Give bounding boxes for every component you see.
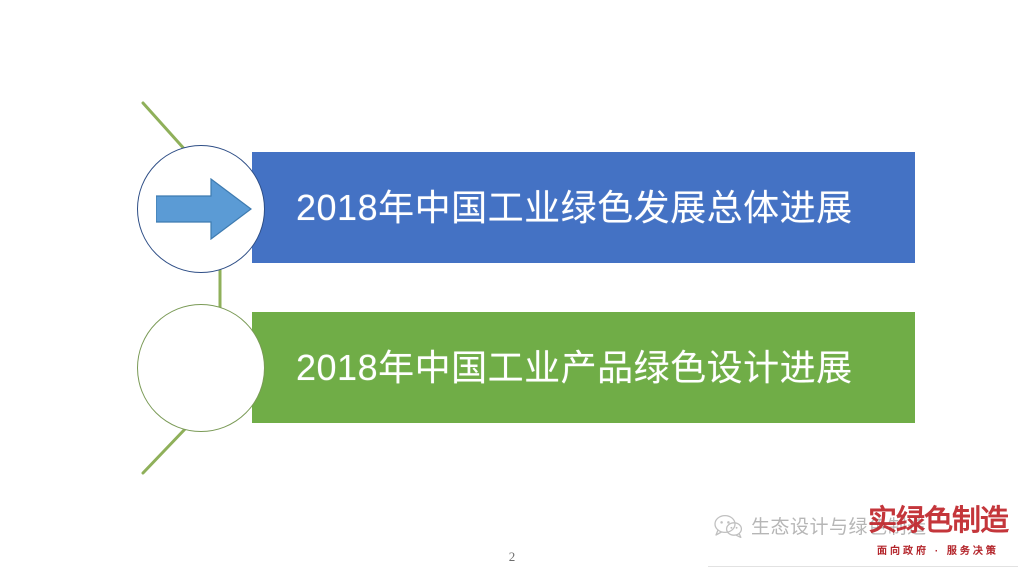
connector-line-bottom (143, 428, 186, 473)
agenda-bar-2[interactable]: 2018年中国工业产品绿色设计进展 (252, 312, 915, 423)
agenda-label-1: 2018年中国工业绿色发展总体进展 (296, 190, 853, 226)
agenda-bar-1[interactable]: 2018年中国工业绿色发展总体进展 (252, 152, 915, 263)
footer-divider (708, 566, 1018, 567)
decorative-connector-lines (0, 0, 1024, 576)
agenda-node-circle-2[interactable] (137, 304, 265, 432)
brand-logo-watermark: 实绿色制造 面向政府 · 服务决策 (862, 507, 1014, 557)
brand-logo-title: 实绿色制造 (862, 507, 1014, 536)
brand-logo-subtitle: 面向政府 · 服务决策 (862, 542, 1014, 557)
connector-line-top (143, 103, 187, 152)
wechat-icon (714, 514, 742, 538)
presentation-slide: 2018年中国工业绿色发展总体进展 2018年中国工业产品绿色设计进展 2 (0, 0, 1024, 576)
watermark-group: 生态设计与绿色制造 实绿色制造 面向政府 · 服务决策 (714, 503, 1014, 565)
arrow-right-icon (156, 178, 252, 240)
agenda-label-2: 2018年中国工业产品绿色设计进展 (296, 350, 853, 386)
